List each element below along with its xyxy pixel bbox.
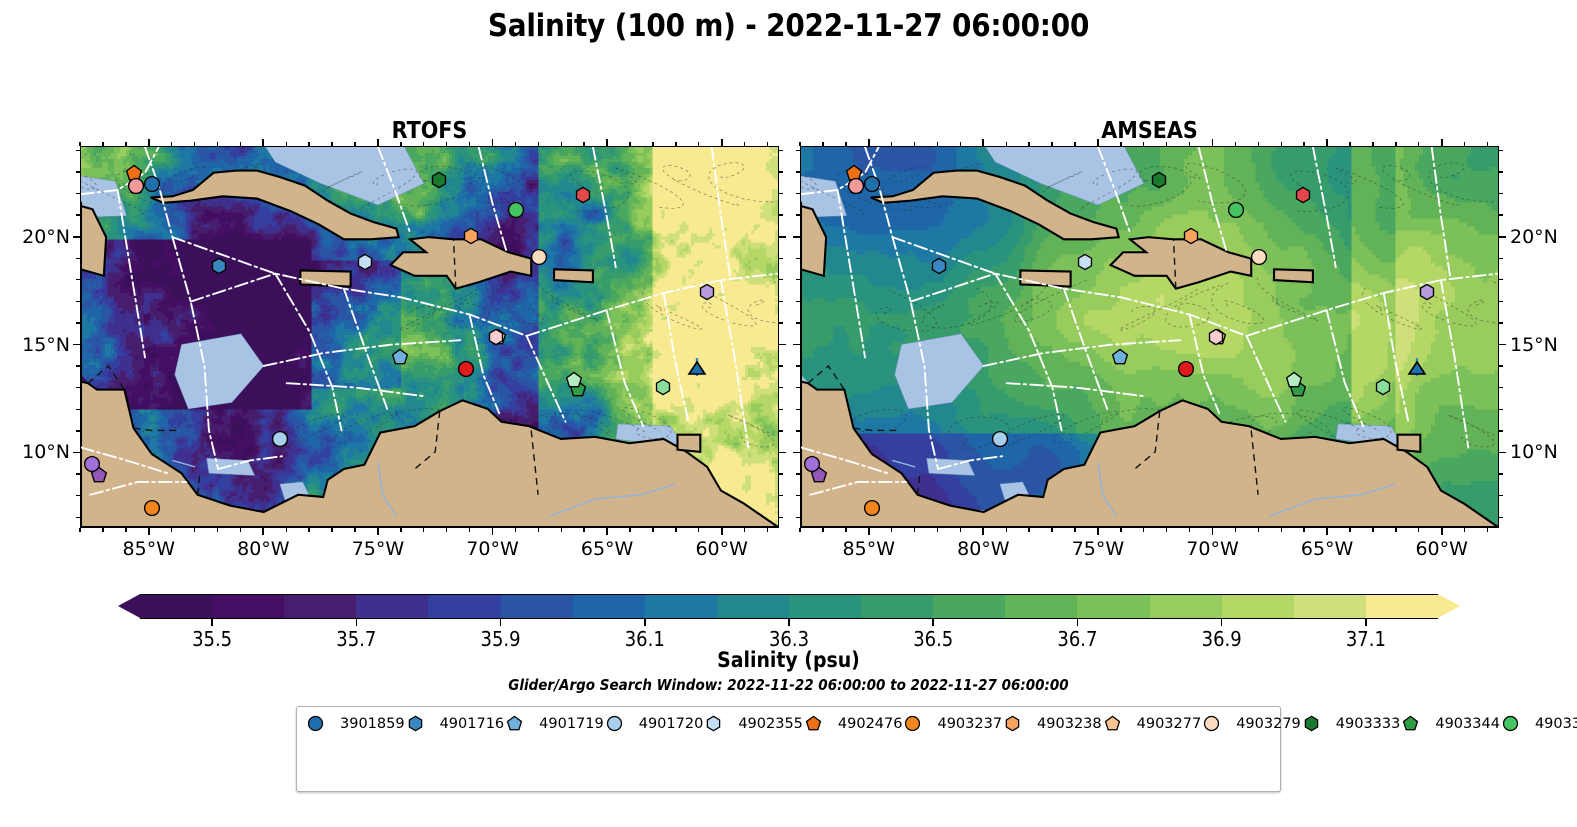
colorbar-band-1 [212,595,284,618]
map-marker-4901719[interactable] [1111,348,1129,370]
x-minor-tick [1349,528,1350,532]
x-minor-tick [1189,142,1190,146]
y-major-tick [73,344,80,346]
x-minor-tick [354,528,355,532]
x-tick-label: 70°W [466,538,518,560]
map-marker-4903354[interactable] [127,177,145,199]
x-minor-tick [171,528,172,532]
map-marker-6902958[interactable] [698,283,716,305]
legend-item-label: 4901719 [539,716,604,732]
y-minor-tick [779,279,783,280]
map-marker-4903237[interactable] [143,499,161,521]
legend-marker-hexagon-icon [407,715,433,733]
x-minor-tick [446,528,447,532]
x-minor-tick [1418,528,1419,532]
x-minor-tick [1487,142,1488,146]
y-minor-tick [76,430,80,431]
panel-title-amseas: AMSEAS [800,118,1499,144]
x-minor-tick [217,528,218,532]
y-minor-tick [796,409,800,410]
legend-item-4903333[interactable]: 4903333 [1301,713,1401,734]
x-major-tick [377,139,379,146]
colorbar-tick [1365,619,1367,626]
y-minor-tick [1499,150,1503,151]
legend-item-4901719[interactable]: 4901719 [504,713,604,734]
x-tick-label: 85°W [843,538,895,560]
x-major-tick [982,528,984,535]
x-minor-tick [125,528,126,532]
y-minor-tick [796,430,800,431]
map-marker-4903349[interactable] [565,371,583,393]
x-minor-tick [561,528,562,532]
x-minor-tick [1349,142,1350,146]
colorbar-band-10 [861,595,933,618]
y-minor-tick [779,301,783,302]
map-marker-4903238[interactable] [1182,227,1200,249]
y-minor-tick [1499,214,1503,215]
x-minor-tick [845,142,846,146]
x-minor-tick [400,528,401,532]
x-minor-tick [194,142,195,146]
x-minor-tick [1395,528,1396,532]
map-marker-4903238[interactable] [462,227,480,249]
y-minor-tick [1499,171,1503,172]
colorbar-band-16 [1294,595,1366,618]
x-minor-tick [515,142,516,146]
x-major-tick [868,139,870,146]
legend-item-label: 4902476 [838,716,903,732]
colorbar-band-13 [1077,595,1149,618]
x-major-tick [1441,139,1443,146]
colorbar-tick [932,619,934,626]
legend-marker-pentagon-icon [1104,715,1130,733]
x-minor-tick [331,528,332,532]
y-minor-tick [779,387,783,388]
x-minor-tick [1189,528,1190,532]
x-minor-tick [583,142,584,146]
map-marker-glider[interactable] [680,356,714,382]
x-minor-tick [822,142,823,146]
y-major-tick [1499,452,1506,454]
y-minor-tick [779,150,783,151]
x-minor-tick [1028,142,1029,146]
colorbar-band-6 [573,595,645,618]
page-title: Salinity (100 m) - 2022-11-27 06:00:00 [0,8,1577,44]
x-minor-tick [1120,528,1121,532]
x-minor-tick [102,142,103,146]
legend-item-4903345[interactable]: 4903345 [1500,713,1577,734]
legend-item-label: 4902355 [738,716,803,732]
x-minor-tick [1166,142,1167,146]
y-major-tick [779,452,786,454]
y-major-tick [793,236,800,238]
legend-item-4903238[interactable]: 4903238 [1002,713,1102,734]
y-minor-tick [1499,517,1503,518]
x-minor-tick [1464,528,1465,532]
y-minor-tick [76,473,80,474]
y-tick-label: 10°N [0,441,70,463]
x-major-tick [721,528,723,535]
panel-title-rtofs: RTOFS [80,118,779,144]
x-major-tick [1326,528,1328,535]
y-minor-tick [796,322,800,323]
colorbar-label: Salinity (psu) [0,648,1577,672]
legend-marker-pentagon-icon [805,715,831,733]
map-marker-4902355[interactable] [1076,253,1094,275]
legend-item-label: 4903333 [1336,716,1401,732]
x-minor-tick [1074,142,1075,146]
x-major-tick [1326,139,1328,146]
legend-item-label: 4903345 [1535,716,1577,732]
x-minor-tick [538,142,539,146]
salinity-field-amseas [801,147,1498,527]
x-tick-label: 60°W [695,538,747,560]
x-major-tick [148,528,150,535]
y-minor-tick [76,387,80,388]
x-tick-label: 75°W [1072,538,1124,560]
y-minor-tick [76,150,80,151]
legend-item-4901720[interactable]: 4901720 [604,713,704,734]
x-minor-tick [960,528,961,532]
x-minor-tick [767,142,768,146]
legend-marker-hexagon-icon [1303,715,1329,733]
x-minor-tick [960,142,961,146]
x-minor-tick [102,528,103,532]
y-minor-tick [796,517,800,518]
x-minor-tick [1006,528,1007,532]
x-minor-tick [79,142,80,146]
map-marker-6902958[interactable] [1418,283,1436,305]
map-marker-4903237[interactable] [863,499,881,521]
x-tick-label: 70°W [1186,538,1238,560]
legend-item-4902476[interactable]: 4902476 [803,713,903,734]
x-major-tick [1212,528,1214,535]
colorbar-band-7 [645,595,717,618]
y-minor-tick [76,258,80,259]
y-minor-tick [796,279,800,280]
legend-item-4903237[interactable]: 4903237 [902,713,1002,734]
x-minor-tick [1395,142,1396,146]
x-major-tick [262,528,264,535]
legend-marker-pentagon-icon [506,715,532,733]
legend-marker-circle-icon [1203,715,1229,733]
colorbar-band-12 [1005,595,1077,618]
colorbar-tick [644,619,646,626]
x-minor-tick [1051,142,1052,146]
map-marker-glider[interactable] [1400,356,1434,382]
x-minor-tick [515,528,516,532]
map-marker-4903333[interactable] [1150,171,1168,193]
map-marker-5906437[interactable] [1207,328,1225,350]
map-marker-4903347[interactable] [1374,378,1392,400]
map-marker-4901716[interactable] [210,257,228,279]
landmass-puerto-rico [1274,269,1313,282]
y-minor-tick [796,214,800,215]
colorbar-tick [356,619,358,626]
x-major-tick [377,528,379,535]
x-minor-tick [538,528,539,532]
y-minor-tick [779,214,783,215]
landmass-puerto-rico [554,269,593,282]
y-major-tick [779,344,786,346]
x-tick-label: 60°W [1415,538,1467,560]
x-minor-tick [1166,528,1167,532]
x-minor-tick [698,528,699,532]
y-minor-tick [796,301,800,302]
x-minor-tick [1051,528,1052,532]
map-panel-rtofs[interactable] [80,146,779,528]
legend[interactable]: 3901859490171649017194901720490235549024… [296,706,1281,792]
legend-item-4903344[interactable]: 4903344 [1400,713,1500,734]
y-minor-tick [796,150,800,151]
legend-item-label: 4903279 [1236,716,1301,732]
colorbar-band-2 [284,595,356,618]
x-minor-tick [240,142,241,146]
x-minor-tick [767,528,768,532]
legend-item-label: 4903237 [937,716,1002,732]
x-minor-tick [400,142,401,146]
legend-item-4903279[interactable]: 4903279 [1201,713,1301,734]
y-tick-label: 10°N [1510,441,1558,463]
colorbar-tick [1221,619,1223,626]
y-tick-label: 20°N [0,226,70,248]
x-minor-tick [446,142,447,146]
legend-item-label: 4903344 [1435,716,1500,732]
x-minor-tick [1074,528,1075,532]
legend-item-label: 4903277 [1137,716,1202,732]
map-marker-4903347[interactable] [654,378,672,400]
colorbar-extend-high [1438,594,1460,618]
y-minor-tick [779,365,783,366]
y-minor-tick [796,258,800,259]
x-minor-tick [799,142,800,146]
y-minor-tick [796,495,800,496]
x-minor-tick [308,142,309,146]
map-marker-5906480[interactable] [803,455,821,477]
legend-item-4903277[interactable]: 4903277 [1102,713,1202,734]
x-minor-tick [354,142,355,146]
x-minor-tick [1143,528,1144,532]
map-marker-4901720[interactable] [991,430,1009,452]
y-major-tick [779,236,786,238]
x-minor-tick [914,528,915,532]
legend-item-label: 4901720 [639,716,704,732]
y-minor-tick [1499,301,1503,302]
x-minor-tick [744,142,745,146]
map-marker-3901859[interactable] [143,175,161,197]
y-minor-tick [1499,430,1503,431]
landmass-trinidad [677,435,700,452]
legend-item-4901716[interactable]: 4901716 [405,713,505,734]
legend-marker-hexagon-icon [705,715,731,733]
legend-grid: 3901859490171649017194901720490235549024… [305,713,1274,787]
x-major-tick [1097,528,1099,535]
x-minor-tick [845,528,846,532]
y-minor-tick [76,517,80,518]
y-minor-tick [76,279,80,280]
x-minor-tick [561,142,562,146]
colorbar-band-4 [428,595,500,618]
x-minor-tick [675,142,676,146]
map-marker-3901859[interactable] [863,175,881,197]
legend-marker-pentagon-icon [1402,715,1428,733]
x-minor-tick [286,142,287,146]
colorbar-gradient [140,594,1438,619]
x-minor-tick [1235,528,1236,532]
x-tick-label: 85°W [123,538,175,560]
x-minor-tick [629,528,630,532]
map-marker-4903345[interactable] [507,201,525,223]
x-minor-tick [1258,528,1259,532]
map-marker-5906480[interactable] [83,455,101,477]
x-minor-tick [675,528,676,532]
y-major-tick [1499,344,1506,346]
legend-marker-circle-icon [307,715,333,733]
y-minor-tick [1499,365,1503,366]
x-major-tick [982,139,984,146]
x-minor-tick [891,142,892,146]
x-minor-tick [1303,142,1304,146]
x-minor-tick [937,142,938,146]
y-tick-label: 20°N [1510,226,1558,248]
x-minor-tick [1235,142,1236,146]
colorbar-band-0 [140,595,212,618]
y-major-tick [793,344,800,346]
map-marker-4903350[interactable] [457,360,475,382]
map-panel-amseas[interactable] [800,146,1499,528]
y-minor-tick [76,409,80,410]
map-marker-4903352[interactable] [1294,186,1312,208]
y-major-tick [793,452,800,454]
map-marker-4903345[interactable] [1227,201,1245,223]
map-marker-4903354[interactable] [847,177,865,199]
x-tick-label: 65°W [1301,538,1353,560]
map-marker-4902355[interactable] [356,253,374,275]
y-minor-tick [76,365,80,366]
x-major-tick [606,139,608,146]
y-minor-tick [779,322,783,323]
y-minor-tick [76,301,80,302]
x-minor-tick [423,528,424,532]
y-minor-tick [779,258,783,259]
x-minor-tick [937,528,938,532]
y-minor-tick [76,322,80,323]
x-minor-tick [1028,528,1029,532]
y-tick-label: 15°N [1510,334,1558,356]
x-minor-tick [583,528,584,532]
x-minor-tick [125,142,126,146]
x-minor-tick [308,528,309,532]
x-minor-tick [744,528,745,532]
x-minor-tick [286,528,287,532]
y-minor-tick [796,365,800,366]
map-marker-4903350[interactable] [1177,360,1195,382]
map-marker-4901716[interactable] [930,257,948,279]
colorbar[interactable] [118,594,1460,619]
x-minor-tick [1120,142,1121,146]
landmass-trinidad [1397,435,1420,452]
y-minor-tick [76,193,80,194]
map-marker-4901719[interactable] [391,348,409,370]
x-minor-tick [1418,142,1419,146]
y-minor-tick [796,473,800,474]
map-marker-5906437[interactable] [487,328,505,350]
y-minor-tick [1499,193,1503,194]
colorbar-band-14 [1150,595,1222,618]
colorbar-tick [211,619,213,626]
colorbar-extend-low [118,594,140,618]
y-minor-tick [779,409,783,410]
x-major-tick [1097,139,1099,146]
x-minor-tick [652,528,653,532]
y-minor-tick [1499,258,1503,259]
x-major-tick [1441,528,1443,535]
x-minor-tick [1258,142,1259,146]
map-marker-4903279[interactable] [1250,248,1268,270]
x-major-tick [1212,139,1214,146]
y-minor-tick [779,495,783,496]
x-minor-tick [891,528,892,532]
x-minor-tick [469,142,470,146]
y-minor-tick [779,517,783,518]
y-major-tick [73,452,80,454]
colorbar-band-17 [1366,595,1438,618]
y-minor-tick [796,387,800,388]
y-minor-tick [1499,387,1503,388]
y-minor-tick [779,171,783,172]
y-tick-label: 15°N [0,334,70,356]
x-minor-tick [698,142,699,146]
x-major-tick [492,528,494,535]
x-major-tick [606,528,608,535]
x-minor-tick [1281,142,1282,146]
colorbar-band-9 [789,595,861,618]
colorbar-band-3 [356,595,428,618]
y-minor-tick [779,473,783,474]
y-minor-tick [76,495,80,496]
x-minor-tick [652,142,653,146]
x-major-tick [721,139,723,146]
x-minor-tick [1487,528,1488,532]
x-minor-tick [1303,528,1304,532]
y-minor-tick [1499,495,1503,496]
colorbar-band-11 [933,595,1005,618]
x-minor-tick [331,142,332,146]
x-minor-tick [240,528,241,532]
colorbar-band-8 [717,595,789,618]
x-tick-label: 80°W [957,538,1009,560]
y-minor-tick [1499,322,1503,323]
y-major-tick [1499,236,1506,238]
legend-item-3901859[interactable]: 3901859 [305,713,405,734]
map-marker-4903349[interactable] [1285,371,1303,393]
map-marker-4903352[interactable] [574,186,592,208]
map-marker-4903279[interactable] [530,248,548,270]
y-minor-tick [779,193,783,194]
map-marker-4903333[interactable] [430,171,448,193]
colorbar-band-5 [501,595,573,618]
x-minor-tick [1372,142,1373,146]
legend-item-4902355[interactable]: 4902355 [703,713,803,734]
legend-item-label: 3901859 [340,716,405,732]
map-marker-4901720[interactable] [271,430,289,452]
legend-item-label: 4901716 [440,716,505,732]
y-major-tick [73,236,80,238]
y-minor-tick [779,430,783,431]
x-major-tick [868,528,870,535]
y-minor-tick [1499,409,1503,410]
colorbar-tick [500,619,502,626]
